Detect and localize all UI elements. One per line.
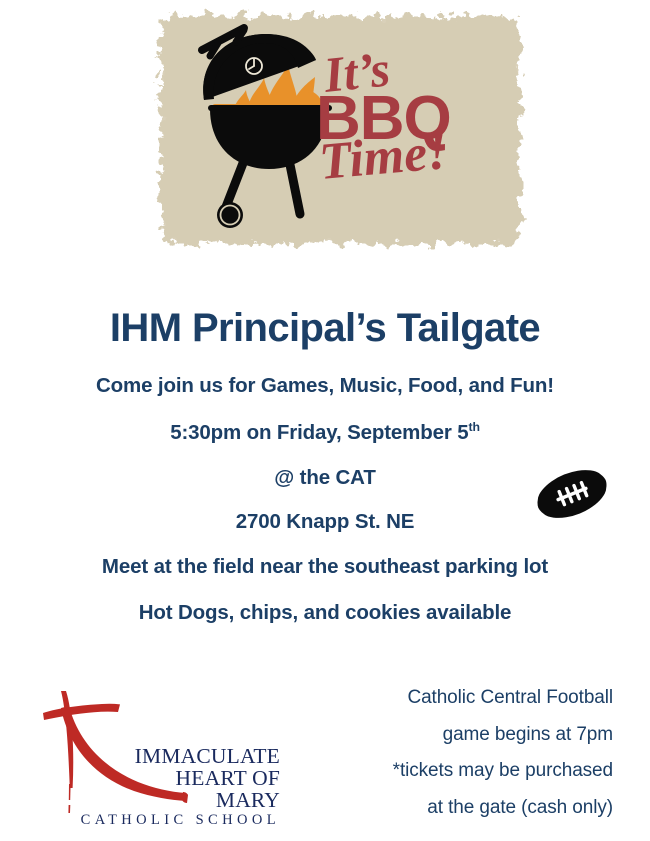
footer-notes: Catholic Central Football game begins at… bbox=[313, 680, 613, 826]
logo-line-heart-of: HEART OF bbox=[90, 768, 280, 790]
meetup-line: Meet at the field near the southeast par… bbox=[0, 557, 650, 578]
datetime-main: 5:30pm on Friday, September 5 bbox=[170, 421, 468, 444]
footer-note-line: *tickets may be purchased bbox=[313, 753, 613, 790]
logo-line-catholic-school: CATHOLIC SCHOOL bbox=[55, 813, 280, 828]
datetime-line: 5:30pm on Friday, September 5th bbox=[0, 423, 650, 444]
footer-note-line: at the gate (cash only) bbox=[313, 790, 613, 827]
ihm-school-logo: IMMACULATE HEART OF MARY CATHOLIC SCHOOL bbox=[30, 672, 280, 832]
logo-line-mary: MARY bbox=[90, 790, 280, 812]
banner-headline-time: Time! bbox=[317, 123, 450, 191]
invite-line: Come join us for Games, Music, Food, and… bbox=[0, 376, 650, 397]
footer-note-line: Catholic Central Football bbox=[313, 680, 613, 717]
food-line: Hot Dogs, chips, and cookies available bbox=[0, 603, 650, 624]
football-icon bbox=[524, 458, 620, 530]
logo-line-immaculate: IMMACULATE bbox=[90, 746, 280, 768]
page-title: IHM Principal’s Tailgate bbox=[0, 307, 650, 349]
flyer-page: It’s BBQ Time! IHM Principal’s Tailgate … bbox=[0, 0, 650, 841]
footer-note-line: game begins at 7pm bbox=[313, 717, 613, 754]
bbq-banner: It’s BBQ Time! bbox=[148, 4, 530, 254]
bbq-grill-illustration: It’s BBQ Time! bbox=[148, 4, 530, 254]
datetime-ordinal-suffix: th bbox=[469, 420, 480, 434]
